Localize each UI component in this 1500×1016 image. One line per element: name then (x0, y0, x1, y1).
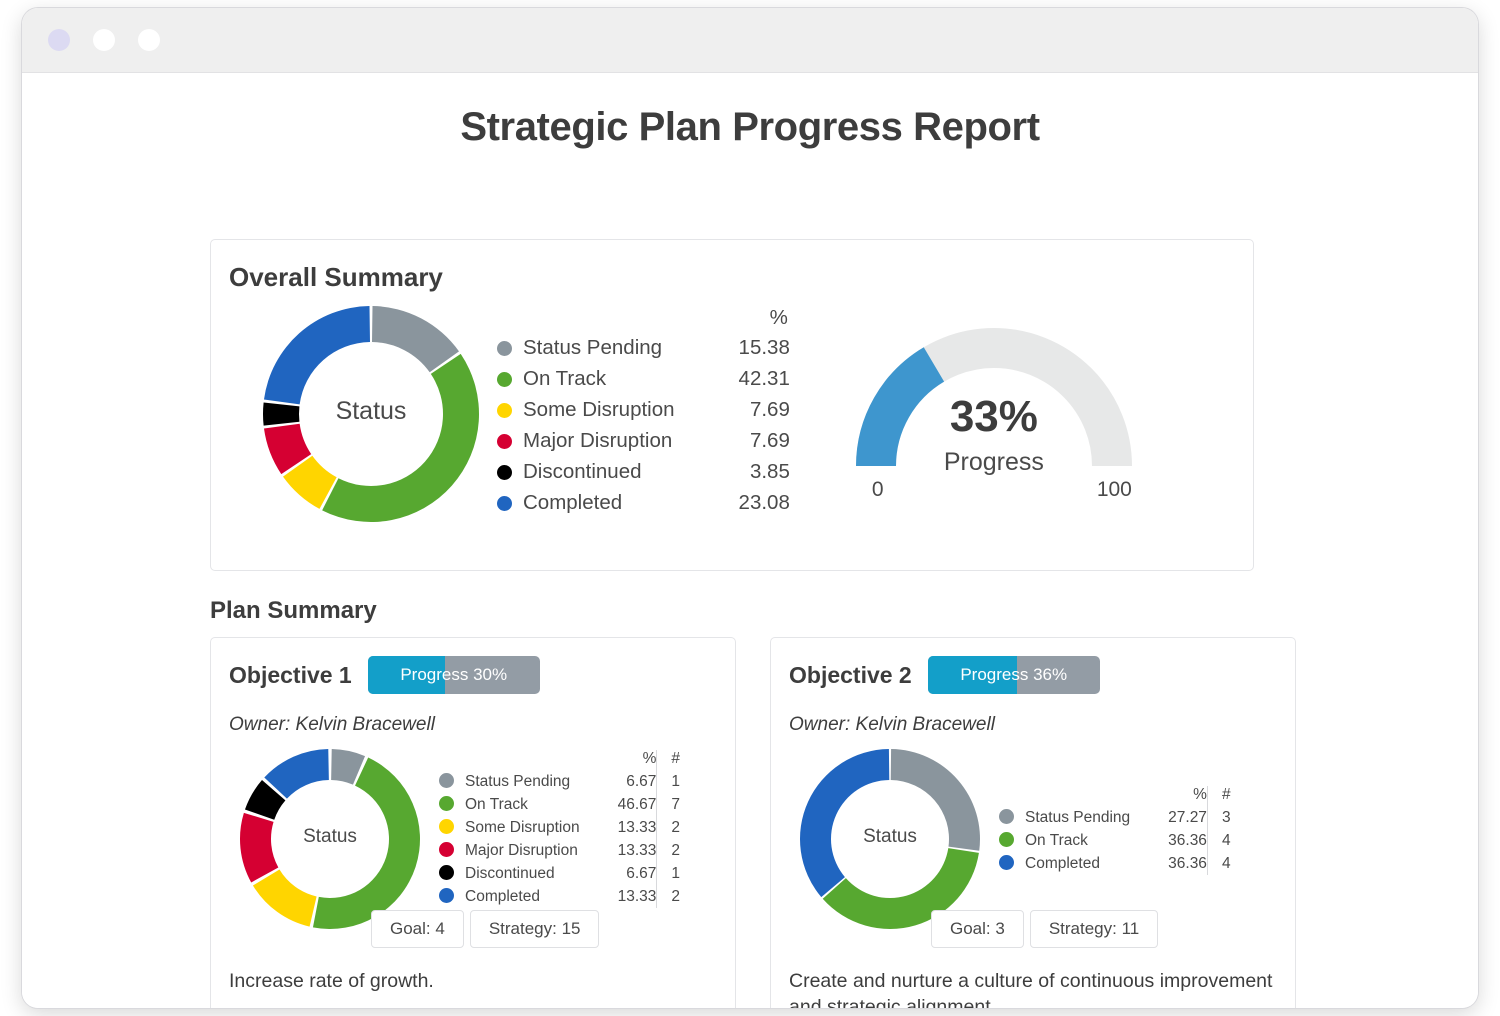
gauge-max-tick-label: 100 (1097, 478, 1132, 502)
legend-color-swatch-icon (439, 888, 454, 903)
donut-slice (264, 306, 370, 404)
legend-percent-value: 6.67 (618, 770, 657, 793)
donut-slice (800, 749, 889, 897)
legend-swatch-cell (439, 816, 465, 839)
legend-status-label: On Track (1025, 829, 1168, 852)
legend-percent-value: 15.38 (739, 332, 790, 363)
objective-2-legend-count-header: # (1207, 786, 1230, 806)
objective-1-legend-count-header: # (657, 750, 680, 770)
legend-row: Discontinued3.85 (497, 456, 790, 487)
legend-percent-value: 7.69 (739, 394, 790, 425)
legend-row: On Track36.364 (999, 829, 1231, 852)
overall-status-legend: % Status Pending15.38On Track42.31Some D… (497, 306, 790, 518)
objective-2-progress-badge[interactable]: Progress 36% (928, 656, 1100, 694)
window-maximize-dot[interactable] (138, 29, 160, 51)
overall-summary-title: Overall Summary (229, 262, 1253, 293)
legend-percent-value: 36.36 (1168, 829, 1207, 852)
objective-2-progress-label: Progress 36% (960, 665, 1067, 685)
legend-percent-header: % (739, 306, 790, 332)
legend-row: Major Disruption13.332 (439, 839, 680, 862)
legend-row: Major Disruption7.69 (497, 425, 790, 456)
legend-count-value: 2 (657, 885, 680, 908)
objective-1-status-legend: % # Status Pending6.671On Track46.677Som… (439, 750, 680, 908)
legend-swatch-cell (999, 829, 1025, 852)
legend-status-label: Status Pending (1025, 806, 1168, 829)
legend-count-value: 2 (657, 839, 680, 862)
legend-row: Completed23.08 (497, 487, 790, 518)
legend-percent-value: 27.27 (1168, 806, 1207, 829)
objective-1-header: Objective 1 Progress 30% (229, 656, 735, 694)
legend-color-swatch-icon (497, 465, 512, 480)
legend-count-value: 2 (657, 816, 680, 839)
donut-slice (372, 306, 459, 372)
gauge-caption: Progress (834, 448, 1154, 477)
legend-percent-value: 36.36 (1168, 852, 1207, 875)
legend-status-label: On Track (523, 363, 739, 394)
legend-swatch-cell (439, 770, 465, 793)
legend-percent-value: 13.33 (618, 885, 657, 908)
objective-1-owner: Owner: Kelvin Bracewell (229, 714, 735, 736)
legend-color-swatch-icon (497, 403, 512, 418)
objective-2-goal-strategy: Goal: 3 Strategy: 11 (931, 910, 1158, 948)
objective-1-progress-label: Progress 30% (400, 665, 507, 685)
report-page: Strategic Plan Progress Report Overall S… (22, 73, 1478, 1008)
objective-2-goal-box[interactable]: Goal: 3 (931, 910, 1024, 948)
legend-swatch-cell (497, 487, 523, 518)
legend-color-swatch-icon (497, 434, 512, 449)
legend-percent-value: 46.67 (618, 793, 657, 816)
objective-1-goal-box[interactable]: Goal: 4 (371, 910, 464, 948)
legend-name-head (523, 306, 739, 332)
legend-row: Status Pending15.38 (497, 332, 790, 363)
legend-color-swatch-icon (439, 865, 454, 880)
legend-count-value: 1 (657, 862, 680, 885)
legend-percent-value: 7.69 (739, 425, 790, 456)
window-minimize-dot[interactable] (93, 29, 115, 51)
legend-swatch-cell (497, 456, 523, 487)
browser-titlebar (22, 8, 1478, 73)
window-controls (48, 8, 160, 72)
legend-color-swatch-icon (497, 372, 512, 387)
legend-color-swatch-icon (439, 842, 454, 857)
objective-1-goal-strategy: Goal: 4 Strategy: 15 (371, 910, 599, 948)
legend-swatch-cell (999, 852, 1025, 875)
objective-2-donut-center-label: Status (797, 826, 983, 848)
window-close-dot[interactable] (48, 29, 70, 51)
legend-row: On Track46.677 (439, 793, 680, 816)
objective-2-chart-row: Status % # Status Pending27.273On Track3… (771, 742, 1295, 938)
legend-swatch-cell (497, 425, 523, 456)
gauge-min-tick-label: 0 (872, 478, 884, 502)
legend-count-value: 1 (657, 770, 680, 793)
legend-name-head (465, 750, 618, 770)
legend-color-swatch-icon (999, 855, 1014, 870)
legend-status-label: Completed (465, 885, 618, 908)
legend-status-label: On Track (465, 793, 618, 816)
legend-status-label: Completed (1025, 852, 1168, 875)
legend-color-swatch-icon (497, 496, 512, 511)
objective-2-legend-percent-header: % (1168, 786, 1207, 806)
legend-percent-value: 13.33 (618, 816, 657, 839)
legend-swatch-cell (497, 363, 523, 394)
legend-spacer-head (497, 306, 523, 332)
objective-card-1: Objective 1 Progress 30% Owner: Kelvin B… (210, 637, 736, 1008)
objective-2-name: Objective 2 (789, 662, 912, 689)
legend-status-label: Status Pending (523, 332, 739, 363)
legend-status-label: Major Disruption (465, 839, 618, 862)
page-title: Strategic Plan Progress Report (22, 73, 1478, 149)
objective-1-legend-percent-header: % (618, 750, 657, 770)
legend-row: Discontinued6.671 (439, 862, 680, 885)
legend-row: Status Pending6.671 (439, 770, 680, 793)
legend-swatch-cell (439, 862, 465, 885)
legend-swatch-cell (999, 806, 1025, 829)
legend-row: Status Pending27.273 (999, 806, 1231, 829)
objective-1-description: Increase rate of growth. (229, 968, 717, 994)
legend-count-value: 7 (657, 793, 680, 816)
legend-row: Some Disruption7.69 (497, 394, 790, 425)
overall-summary-body: Status % Status Pending15.38On Track42.3… (211, 302, 1253, 572)
objective-2-status-donut: Status (797, 746, 983, 937)
legend-count-value: 4 (1207, 829, 1230, 852)
objective-1-donut-center-label: Status (237, 826, 423, 848)
legend-color-swatch-icon (439, 796, 454, 811)
legend-name-head (1025, 786, 1168, 806)
legend-color-swatch-icon (439, 819, 454, 834)
legend-status-label: Major Disruption (523, 425, 739, 456)
legend-percent-value: 13.33 (618, 839, 657, 862)
legend-row: Completed36.364 (999, 852, 1231, 875)
legend-spacer-head (999, 786, 1025, 806)
screenshot-root: Strategic Plan Progress Report Overall S… (0, 0, 1500, 1016)
overall-status-donut: Status (259, 302, 483, 531)
legend-color-swatch-icon (999, 809, 1014, 824)
objective-2-header: Objective 2 Progress 36% (789, 656, 1295, 694)
objective-1-strategy-box[interactable]: Strategy: 15 (470, 910, 600, 948)
objective-1-chart-row: Status % # Status Pending6.671On Track46… (211, 742, 735, 938)
donut-slice (322, 354, 479, 522)
legend-color-swatch-icon (999, 832, 1014, 847)
overall-progress-gauge: 33% Progress 0 100 (834, 308, 1154, 518)
legend-status-label: Completed (523, 487, 739, 518)
legend-swatch-cell (497, 394, 523, 425)
objective-2-strategy-box[interactable]: Strategy: 11 (1030, 910, 1158, 948)
legend-percent-value: 3.85 (739, 456, 790, 487)
objective-1-progress-badge[interactable]: Progress 30% (368, 656, 540, 694)
objective-2-owner: Owner: Kelvin Bracewell (789, 714, 1295, 736)
objective-1-name: Objective 1 (229, 662, 352, 689)
legend-row: On Track42.31 (497, 363, 790, 394)
legend-status-label: Some Disruption (465, 816, 618, 839)
gauge-value-label: 33% (834, 392, 1154, 442)
legend-count-value: 4 (1207, 852, 1230, 875)
legend-row: Some Disruption13.332 (439, 816, 680, 839)
donut-slice (253, 869, 317, 926)
objective-card-2: Objective 2 Progress 36% Owner: Kelvin B… (770, 637, 1296, 1008)
legend-swatch-cell (497, 332, 523, 363)
plan-summary-heading: Plan Summary (210, 597, 377, 625)
legend-swatch-cell (439, 885, 465, 908)
legend-status-label: Some Disruption (523, 394, 739, 425)
legend-spacer-head (439, 750, 465, 770)
legend-swatch-cell (439, 793, 465, 816)
overall-summary-card: Overall Summary Status (210, 239, 1254, 571)
legend-status-label: Status Pending (465, 770, 618, 793)
legend-percent-value: 23.08 (739, 487, 790, 518)
objective-2-description: Create and nurture a culture of continuo… (789, 968, 1277, 1008)
legend-color-swatch-icon (497, 341, 512, 356)
legend-swatch-cell (439, 839, 465, 862)
legend-percent-value: 6.67 (618, 862, 657, 885)
legend-status-label: Discontinued (465, 862, 618, 885)
objective-1-status-donut: Status (237, 746, 423, 937)
legend-percent-value: 42.31 (739, 363, 790, 394)
objective-2-status-legend: % # Status Pending27.273On Track36.364Co… (999, 786, 1231, 875)
legend-row: Completed13.332 (439, 885, 680, 908)
browser-window: Strategic Plan Progress Report Overall S… (22, 8, 1478, 1008)
overall-donut-center-label: Status (259, 397, 483, 426)
legend-color-swatch-icon (439, 773, 454, 788)
legend-count-value: 3 (1207, 806, 1230, 829)
legend-status-label: Discontinued (523, 456, 739, 487)
